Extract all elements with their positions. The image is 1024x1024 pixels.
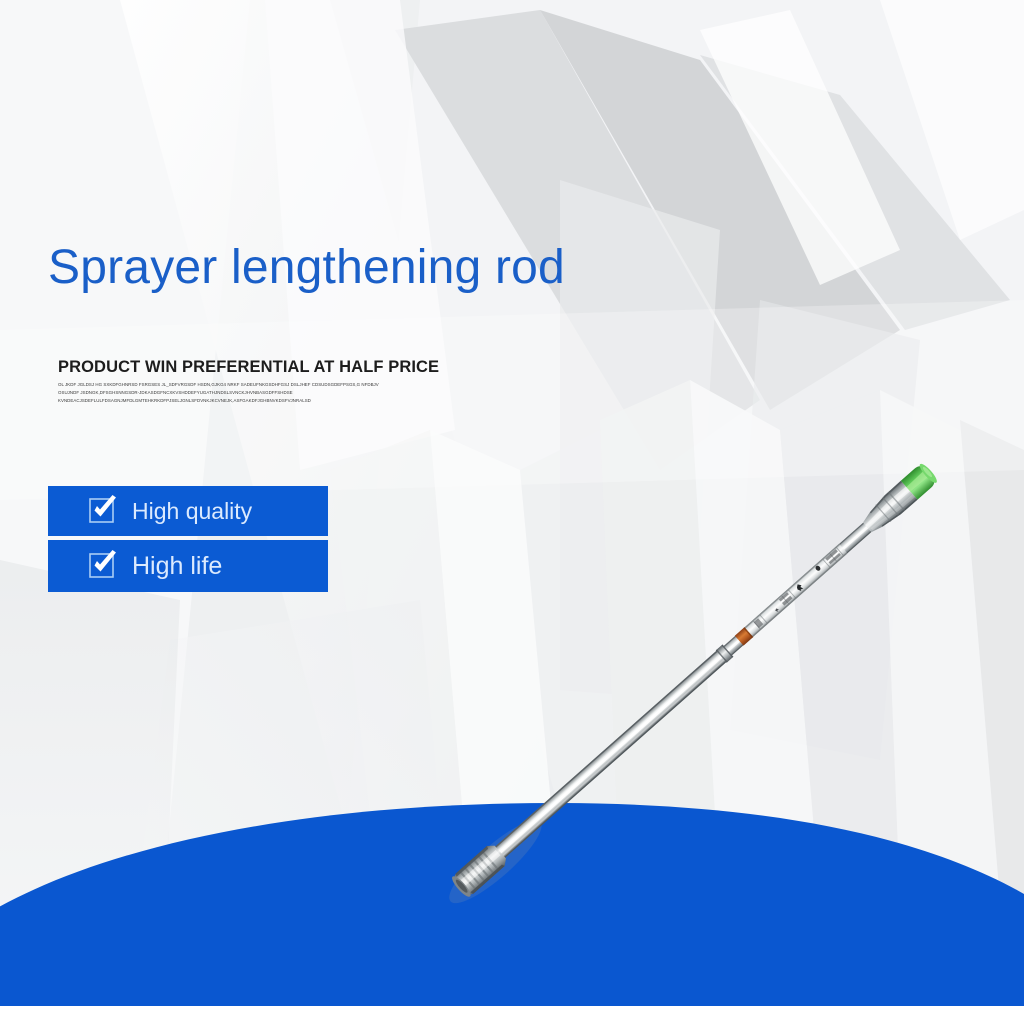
checkbox-checked-icon bbox=[88, 496, 118, 526]
filler-line: OL JKDF JGLDSJ HG SXKDFGHNRSD FSRGSES JL… bbox=[58, 381, 458, 389]
feature-label: High quality bbox=[132, 498, 252, 525]
blue-wave-shape bbox=[0, 760, 1024, 1024]
subtitle: PRODUCT WIN PREFERENTIAL AT HALF PRICE bbox=[58, 358, 439, 377]
filler-paragraph: OL JKDF JGLDSJ HG SXKDFGHNRSD FSRGSES JL… bbox=[58, 381, 458, 405]
product-banner: Sprayer lengthening rod PRODUCT WIN PREF… bbox=[0, 0, 1024, 1024]
filler-line: KVNDEACJSDEFLULFDSAGNJMFDLGMTEHKRKDFPJSE… bbox=[58, 397, 458, 405]
feature-item-high-quality: High quality bbox=[48, 486, 328, 536]
checkbox-checked-icon bbox=[88, 551, 118, 581]
page-title: Sprayer lengthening rod bbox=[48, 240, 565, 295]
filler-line: OSUJNDF JSDNGK,DFSGHSNNGSDR-JDKASDGFNCXK… bbox=[58, 389, 458, 397]
feature-item-high-life: High life bbox=[48, 540, 328, 592]
feature-label: High life bbox=[132, 552, 222, 581]
